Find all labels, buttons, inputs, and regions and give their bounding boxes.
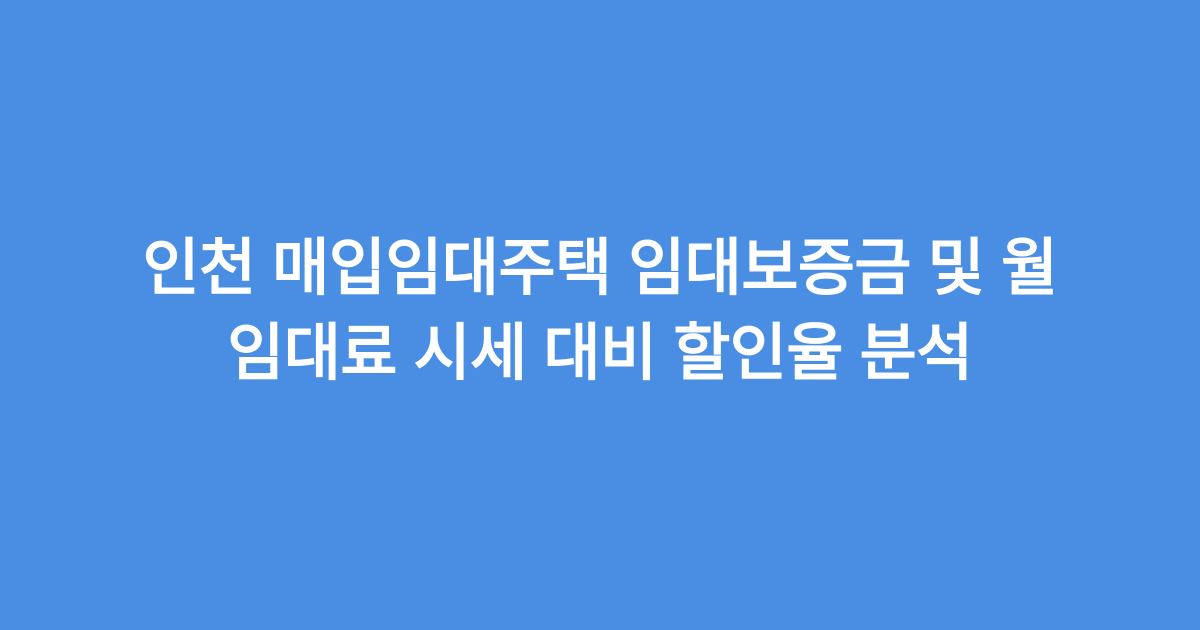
page-title: 인천 매입임대주택 임대보증금 및 월 임대료 시세 대비 할인율 분석: [142, 226, 1057, 396]
title-banner: 인천 매입임대주택 임대보증금 및 월 임대료 시세 대비 할인율 분석: [0, 0, 1200, 630]
page-title-line-1: 인천 매입임대주택 임대보증금 및 월: [142, 226, 1057, 311]
banner-content: 인천 매입임대주택 임대보증금 및 월 임대료 시세 대비 할인율 분석: [70, 226, 1130, 396]
page-title-line-2: 임대료 시세 대비 할인율 분석: [142, 311, 1057, 396]
